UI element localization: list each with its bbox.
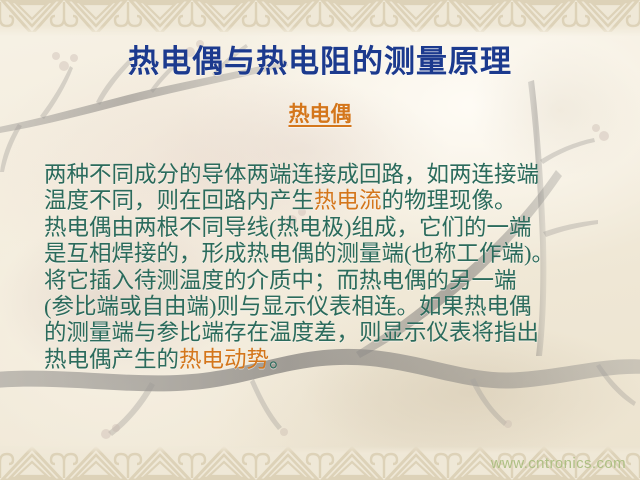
slide-subtitle: 热电偶 <box>0 100 640 128</box>
body-line: 热电偶由两根不同导线(热电极)组成，它们的一端 <box>44 215 616 241</box>
body-line: 是互相焊接的，形成热电偶的测量端(也称工作端)。 <box>44 241 616 267</box>
body-line: 的测量端与参比端存在温度差，则显示仪表将指出 <box>44 320 616 346</box>
highlighted-term: 热电动势 <box>179 347 269 372</box>
body-line: 温度不同，则在回路内产生热电流的物理现像。 <box>44 188 616 214</box>
greek-key-triangle-border-top <box>0 0 640 36</box>
body-text-run: 。 <box>269 347 292 372</box>
body-text-run: 的物理现像。 <box>382 188 517 213</box>
body-line: 将它插入待测温度的介质中；而热电偶的另一端 <box>44 268 616 294</box>
body-line: 热电偶产生的热电动势。 <box>44 347 616 373</box>
body-line: (参比端或自由端)则与显示仪表相连。如果热电偶 <box>44 294 616 320</box>
site-watermark: www.cntronics.com <box>491 455 626 472</box>
body-text-run: 的测量端与参比端存在温度差，则显示仪表将指出 <box>44 320 539 345</box>
body-text-run: 将它插入待测温度的介质中；而热电偶的另一端 <box>44 268 517 293</box>
body-text-run: 是互相焊接的，形成热电偶的测量端(也称工作端)。 <box>44 241 554 266</box>
body-text-run: 两种不同成分的导体两端连接成回路，如两连接端 <box>44 162 539 187</box>
slide-body-text: 两种不同成分的导体两端连接成回路，如两连接端温度不同，则在回路内产生热电流的物理… <box>44 162 616 373</box>
body-line: 两种不同成分的导体两端连接成回路，如两连接端 <box>44 162 616 188</box>
body-text-run: 热电偶由两根不同导线(热电极)组成，它们的一端 <box>44 215 532 240</box>
body-text-run: 温度不同，则在回路内产生 <box>44 188 314 213</box>
highlighted-term: 热电流 <box>314 188 382 213</box>
presentation-slide: 热电偶与热电阻的测量原理 热电偶 两种不同成分的导体两端连接成回路，如两连接端温… <box>0 0 640 480</box>
body-text-run: (参比端或自由端)则与显示仪表相连。如果热电偶 <box>44 294 532 319</box>
body-text-run: 热电偶产生的 <box>44 347 179 372</box>
slide-title: 热电偶与热电阻的测量原理 <box>0 42 640 82</box>
